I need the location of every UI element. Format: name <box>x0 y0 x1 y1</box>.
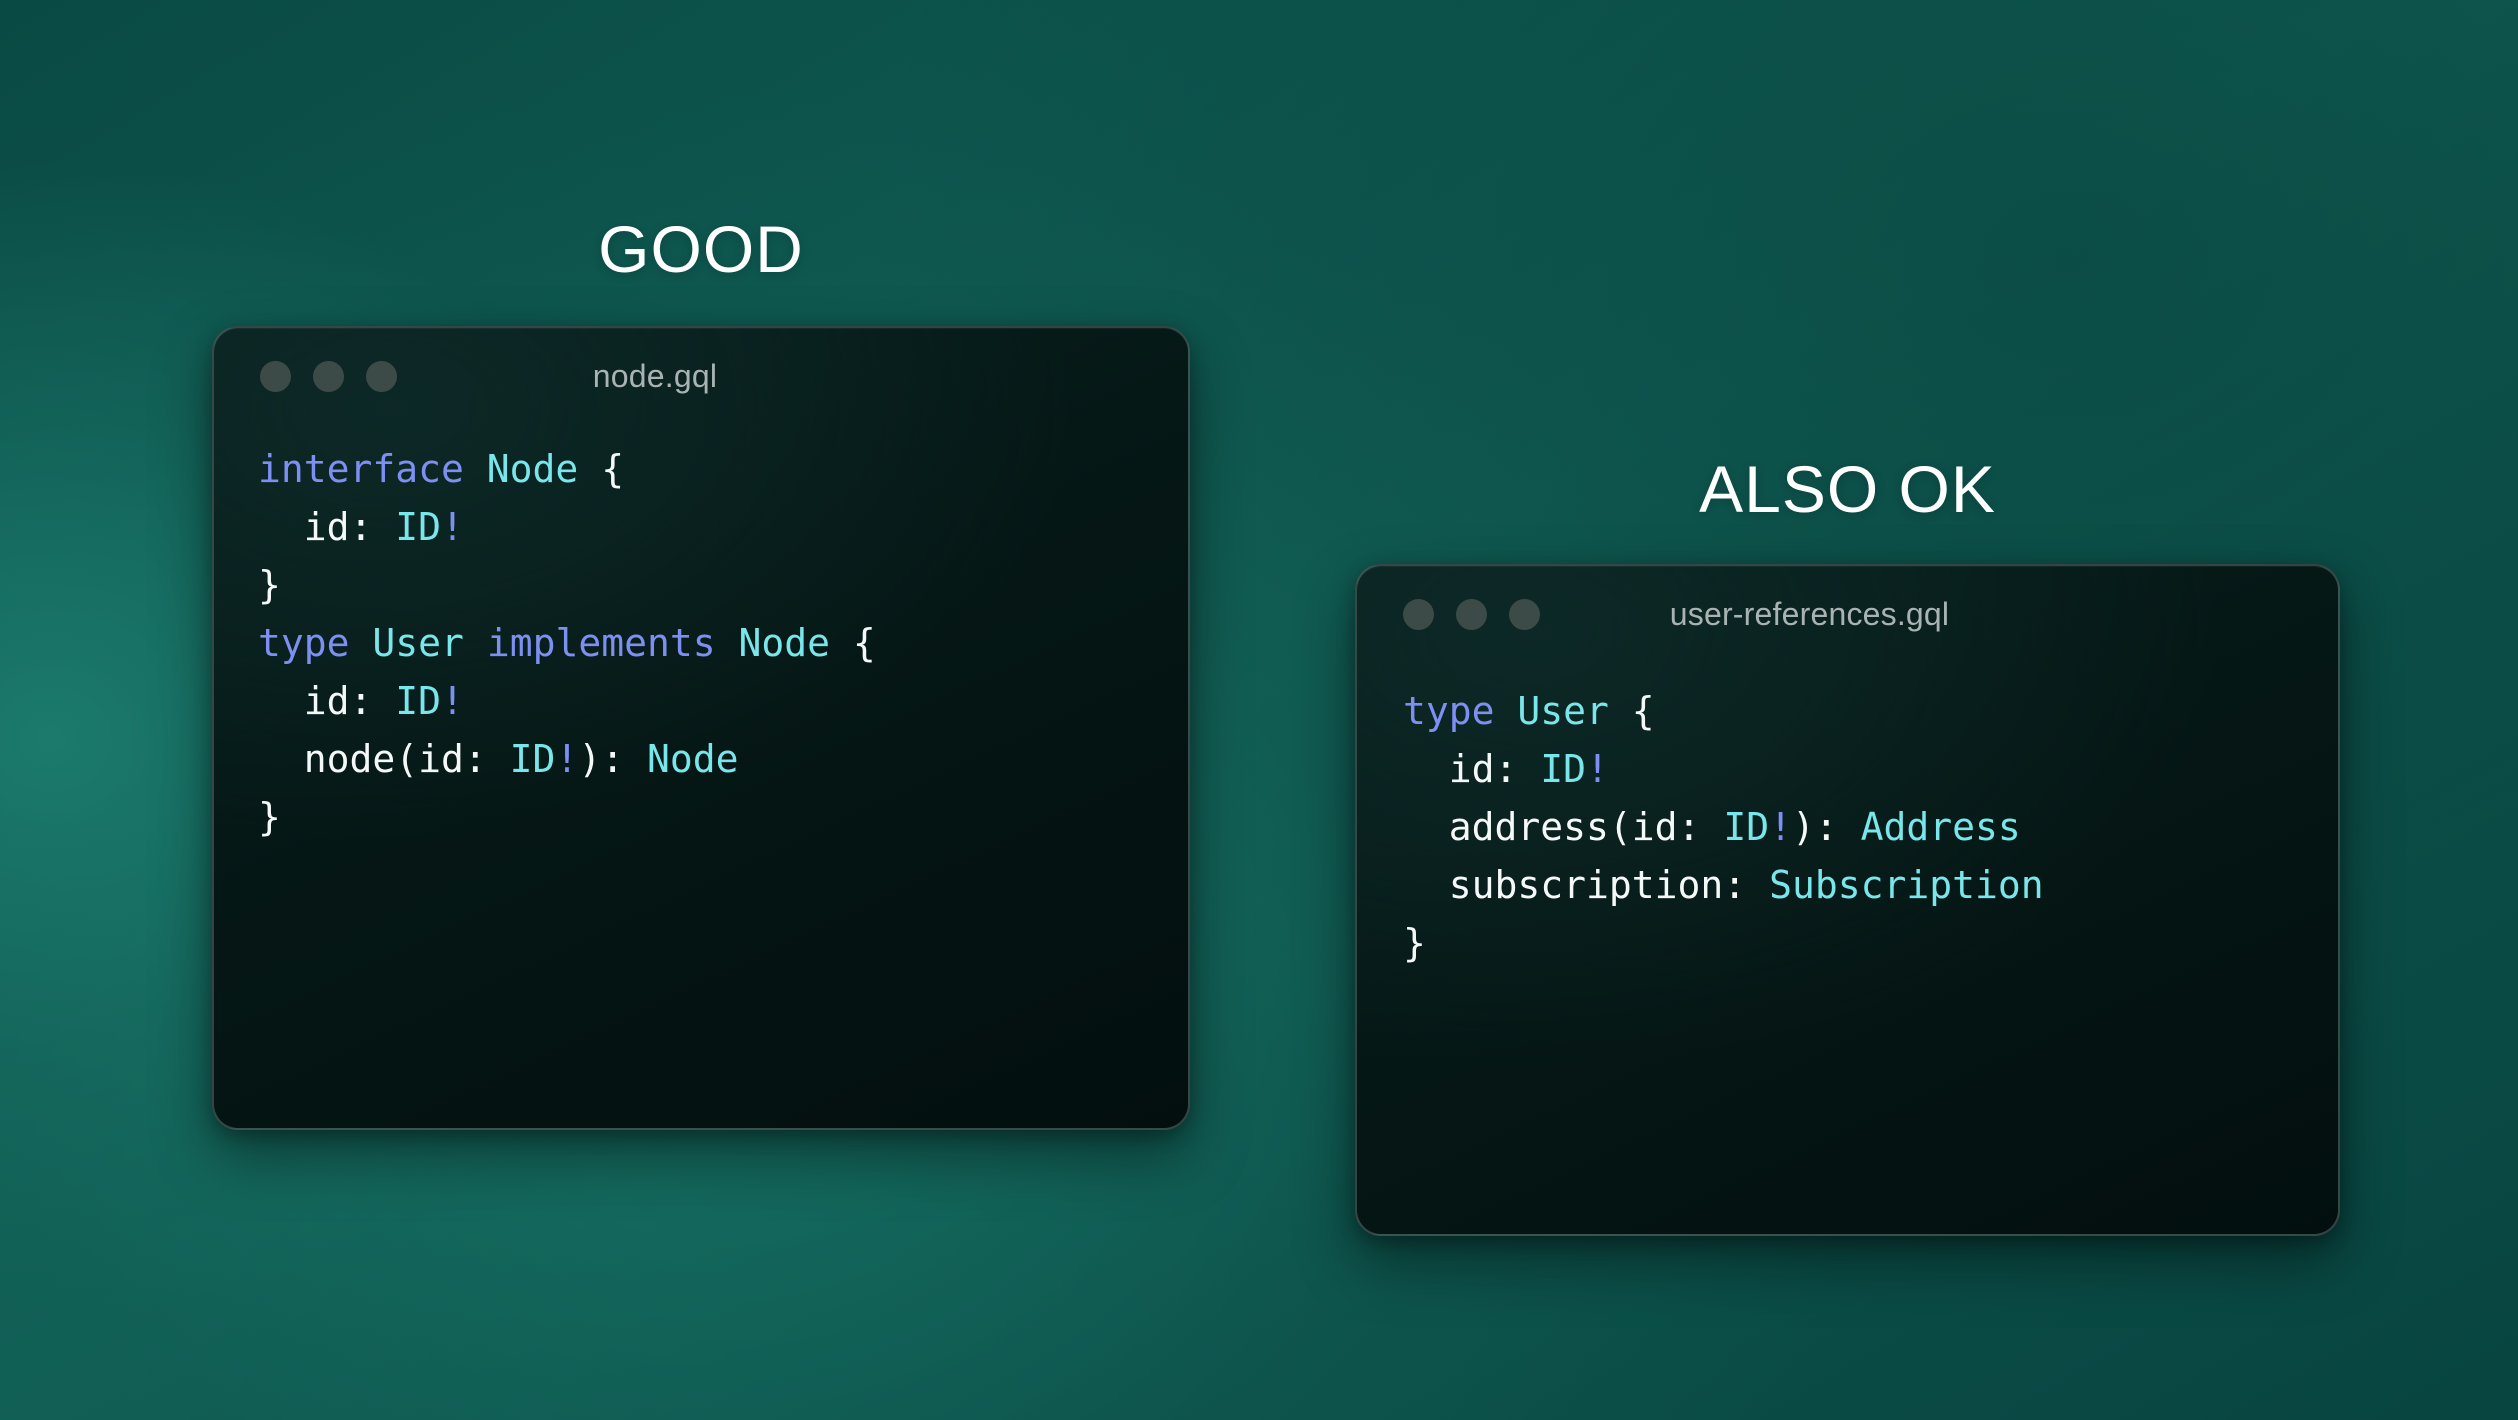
code-token-bang: ! <box>1586 747 1609 791</box>
code-window-node-gql[interactable]: node.gql interface Node { id: ID!}type U… <box>212 326 1190 1130</box>
code-content-node-gql: interface Node { id: ID!}type User imple… <box>214 424 1188 846</box>
code-token-type: Node <box>647 737 739 781</box>
code-token-type: Node <box>738 621 830 665</box>
code-token-kw: implements <box>487 621 716 665</box>
traffic-light-group <box>1403 599 1540 630</box>
code-token-pun: : <box>1723 863 1769 907</box>
code-token-pun: : <box>350 679 396 723</box>
code-token-pun <box>716 621 739 665</box>
window-titlebar: node.gql <box>214 328 1188 424</box>
code-token-fld: node(id <box>258 737 464 781</box>
code-token-pun: { <box>1609 689 1655 733</box>
code-token-type: ID <box>1540 747 1586 791</box>
code-token-pun: ): <box>578 737 647 781</box>
code-token-kw: interface <box>258 447 464 491</box>
panel-label-also-ok: ALSO OK <box>1355 456 2340 522</box>
code-token-bang: ! <box>1769 805 1792 849</box>
code-token-pun <box>1495 689 1518 733</box>
code-token-fld: address(id <box>1403 805 1678 849</box>
traffic-light-dot-maximize[interactable] <box>366 361 397 392</box>
code-token-fld: id <box>1403 747 1495 791</box>
code-token-type: ID <box>1723 805 1769 849</box>
code-line: } <box>1403 914 2338 972</box>
panel-label-good: GOOD <box>212 216 1190 282</box>
code-token-pun: : <box>350 505 396 549</box>
code-line: } <box>258 556 1188 614</box>
code-token-pun: { <box>830 621 876 665</box>
code-line: id: ID! <box>1403 740 2338 798</box>
code-line: interface Node { <box>258 440 1188 498</box>
code-line: address(id: ID!): Address <box>1403 798 2338 856</box>
code-token-fld: id <box>258 505 350 549</box>
code-line: id: ID! <box>258 498 1188 556</box>
code-token-pun: : <box>1495 747 1541 791</box>
traffic-light-dot-maximize[interactable] <box>1509 599 1540 630</box>
traffic-light-dot-minimize[interactable] <box>1456 599 1487 630</box>
code-token-kw: type <box>1403 689 1495 733</box>
code-line: } <box>258 788 1188 846</box>
code-token-pun <box>464 447 487 491</box>
code-token-type: Node <box>487 447 579 491</box>
traffic-light-dot-close[interactable] <box>1403 599 1434 630</box>
code-window-user-references-gql[interactable]: user-references.gql type User { id: ID! … <box>1355 564 2340 1236</box>
code-line: id: ID! <box>258 672 1188 730</box>
code-token-pun: } <box>258 563 281 607</box>
code-token-kw: type <box>258 621 350 665</box>
code-token-type: ID <box>510 737 556 781</box>
example-panel-good: GOOD node.gql interface Node { id: ID!}t… <box>212 216 1190 1130</box>
code-token-bang: ! <box>441 679 464 723</box>
code-token-type: ID <box>395 505 441 549</box>
code-token-type: User <box>1517 689 1609 733</box>
traffic-light-group <box>260 361 397 392</box>
code-token-type: User <box>372 621 464 665</box>
code-token-pun: { <box>578 447 624 491</box>
code-token-pun: ): <box>1792 805 1861 849</box>
code-content-user-references-gql: type User { id: ID! address(id: ID!): Ad… <box>1357 662 2338 972</box>
code-line: node(id: ID!): Node <box>258 730 1188 788</box>
code-token-type: ID <box>395 679 441 723</box>
code-token-pun: } <box>258 795 281 839</box>
code-token-pun: : <box>1678 805 1724 849</box>
code-line: subscription: Subscription <box>1403 856 2338 914</box>
code-token-type: Address <box>1861 805 2021 849</box>
code-token-bang: ! <box>441 505 464 549</box>
code-token-bang: ! <box>555 737 578 781</box>
code-token-pun <box>464 621 487 665</box>
code-token-fld: subscription <box>1403 863 1723 907</box>
traffic-light-dot-close[interactable] <box>260 361 291 392</box>
code-token-fld: id <box>258 679 350 723</box>
code-token-pun <box>350 621 373 665</box>
code-token-pun: : <box>464 737 510 781</box>
code-token-pun: } <box>1403 921 1426 965</box>
code-line: type User implements Node { <box>258 614 1188 672</box>
code-token-type: Subscription <box>1769 863 2044 907</box>
traffic-light-dot-minimize[interactable] <box>313 361 344 392</box>
example-panel-also-ok: ALSO OK user-references.gql type User { … <box>1355 456 2340 1236</box>
code-line: type User { <box>1403 682 2338 740</box>
window-titlebar: user-references.gql <box>1357 566 2338 662</box>
